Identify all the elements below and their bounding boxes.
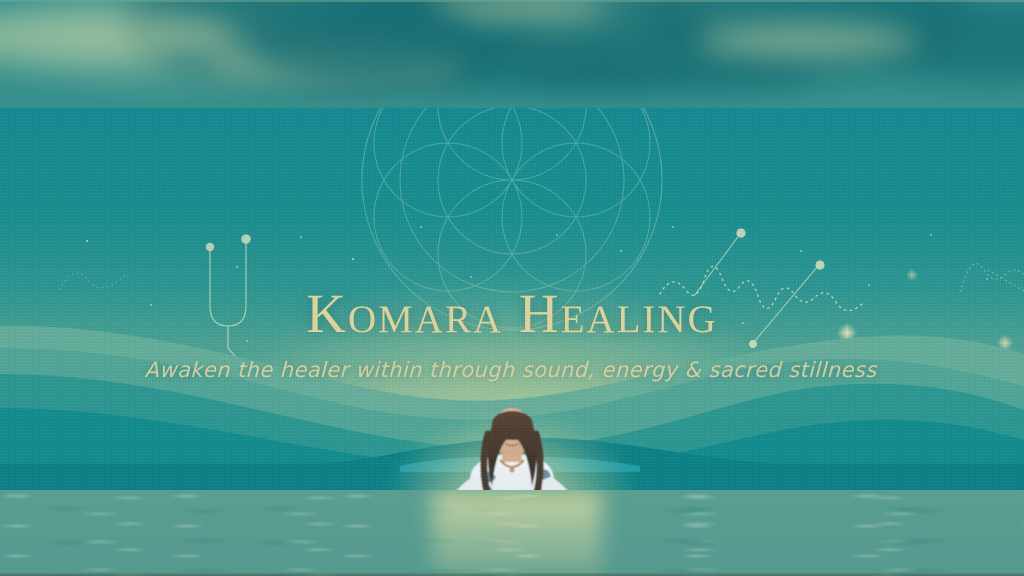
banner-canvas: Komara Healing Awaken the healer within … bbox=[0, 0, 1024, 576]
sun-reflection-streak bbox=[432, 490, 602, 576]
banner-top-edge bbox=[0, 0, 1024, 2]
inner-banner: Komara Healing Awaken the healer within … bbox=[0, 108, 1024, 490]
banner-grain-overlay bbox=[0, 108, 1024, 490]
